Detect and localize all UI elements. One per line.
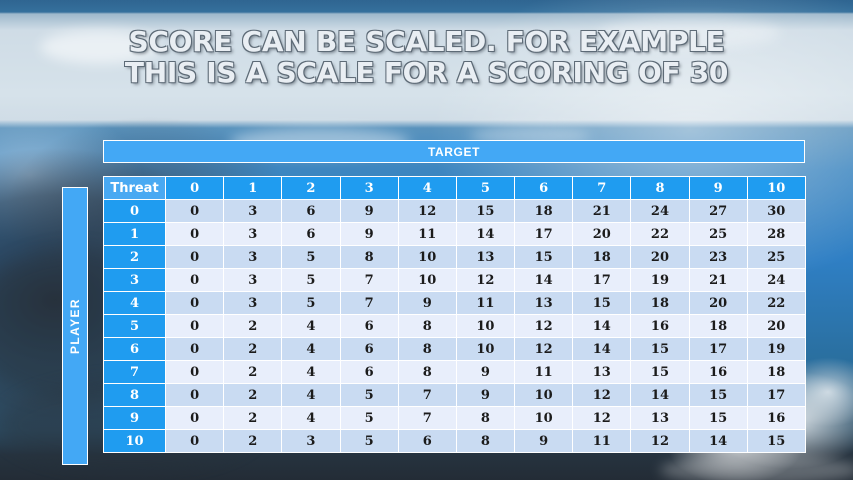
cell-r4-c9: 20: [689, 292, 747, 315]
cell-r1-c5: 14: [456, 223, 514, 246]
cell-r9-c3: 5: [340, 407, 398, 430]
cell-r5-c5: 10: [456, 315, 514, 338]
cell-r2-c8: 20: [631, 246, 689, 269]
cell-r4-c5: 11: [456, 292, 514, 315]
cell-r2-c7: 18: [573, 246, 631, 269]
cell-r8-c0: 0: [166, 384, 224, 407]
column-header-0: 0: [166, 177, 224, 200]
cell-r2-c2: 5: [282, 246, 340, 269]
cell-r5-c4: 8: [398, 315, 456, 338]
cell-r0-c0: 0: [166, 200, 224, 223]
cloud-wisp: [660, 455, 853, 480]
column-header-4: 4: [398, 177, 456, 200]
cell-r7-c7: 13: [573, 361, 631, 384]
player-axis-label: PLAYER: [62, 187, 88, 465]
column-header-1: 1: [224, 177, 282, 200]
score-table-wrapper: Threat 012345678910 00369121518212427301…: [103, 176, 805, 453]
cell-r1-c1: 3: [224, 223, 282, 246]
cell-r1-c7: 20: [573, 223, 631, 246]
cell-r6-c6: 12: [515, 338, 573, 361]
cell-r4-c8: 18: [631, 292, 689, 315]
cell-r6-c3: 6: [340, 338, 398, 361]
cell-r0-c7: 21: [573, 200, 631, 223]
cell-r7-c9: 16: [689, 361, 747, 384]
cell-r2-c10: 25: [747, 246, 805, 269]
row-header-4: 4: [104, 292, 166, 315]
cell-r8-c4: 7: [398, 384, 456, 407]
cell-r8-c7: 12: [573, 384, 631, 407]
cell-r0-c5: 15: [456, 200, 514, 223]
cell-r4-c3: 7: [340, 292, 398, 315]
cell-r1-c4: 11: [398, 223, 456, 246]
cell-r9-c1: 2: [224, 407, 282, 430]
table-row: 403579111315182022: [104, 292, 806, 315]
slide: SCORE CAN BE SCALED. FOR EXAMPLE THIS IS…: [0, 0, 853, 480]
cell-r0-c4: 12: [398, 200, 456, 223]
cell-r3-c3: 7: [340, 269, 398, 292]
row-header-8: 8: [104, 384, 166, 407]
cell-r7-c6: 11: [515, 361, 573, 384]
cell-r10-c5: 8: [456, 430, 514, 453]
cell-r7-c8: 15: [631, 361, 689, 384]
cell-r9-c5: 8: [456, 407, 514, 430]
cell-r1-c2: 6: [282, 223, 340, 246]
column-header-2: 2: [282, 177, 340, 200]
cell-r10-c9: 14: [689, 430, 747, 453]
cell-r1-c9: 25: [689, 223, 747, 246]
cell-r5-c3: 6: [340, 315, 398, 338]
cell-r4-c10: 22: [747, 292, 805, 315]
cell-r9-c2: 4: [282, 407, 340, 430]
target-axis-label: TARGET: [103, 140, 805, 163]
cell-r8-c6: 10: [515, 384, 573, 407]
cell-r5-c6: 12: [515, 315, 573, 338]
column-header-7: 7: [573, 177, 631, 200]
row-header-1: 1: [104, 223, 166, 246]
cell-r2-c1: 3: [224, 246, 282, 269]
cell-r3-c2: 5: [282, 269, 340, 292]
row-header-7: 7: [104, 361, 166, 384]
score-table: Threat 012345678910 00369121518212427301…: [103, 176, 806, 453]
row-header-3: 3: [104, 269, 166, 292]
cell-r0-c2: 6: [282, 200, 340, 223]
cell-r3-c0: 0: [166, 269, 224, 292]
cell-r5-c7: 14: [573, 315, 631, 338]
cell-r6-c1: 2: [224, 338, 282, 361]
cell-r7-c0: 0: [166, 361, 224, 384]
cell-r4-c6: 13: [515, 292, 573, 315]
cell-r7-c2: 4: [282, 361, 340, 384]
column-header-6: 6: [515, 177, 573, 200]
cell-r9-c10: 16: [747, 407, 805, 430]
cell-r2-c6: 15: [515, 246, 573, 269]
table-row: 602468101214151719: [104, 338, 806, 361]
cell-r7-c4: 8: [398, 361, 456, 384]
cell-r7-c1: 2: [224, 361, 282, 384]
cell-r1-c0: 0: [166, 223, 224, 246]
column-header-5: 5: [456, 177, 514, 200]
cell-r8-c10: 17: [747, 384, 805, 407]
cell-r3-c10: 24: [747, 269, 805, 292]
target-axis-label-text: TARGET: [428, 145, 480, 159]
table-row: 502468101214161820: [104, 315, 806, 338]
table-row: 10023568911121415: [104, 430, 806, 453]
cell-r10-c0: 0: [166, 430, 224, 453]
cell-r5-c1: 2: [224, 315, 282, 338]
cell-r3-c8: 19: [631, 269, 689, 292]
cell-r6-c5: 10: [456, 338, 514, 361]
table-header-row: Threat 012345678910: [104, 177, 806, 200]
cell-r2-c5: 13: [456, 246, 514, 269]
cell-r10-c2: 3: [282, 430, 340, 453]
cell-r1-c6: 17: [515, 223, 573, 246]
corner-header-threat: Threat: [104, 177, 166, 200]
cell-r4-c7: 15: [573, 292, 631, 315]
cell-r9-c9: 15: [689, 407, 747, 430]
cell-r9-c8: 13: [631, 407, 689, 430]
row-header-5: 5: [104, 315, 166, 338]
row-header-0: 0: [104, 200, 166, 223]
cell-r3-c4: 10: [398, 269, 456, 292]
cell-r0-c3: 9: [340, 200, 398, 223]
cell-r3-c7: 17: [573, 269, 631, 292]
cell-r9-c0: 0: [166, 407, 224, 430]
table-row: 1036911141720222528: [104, 223, 806, 246]
cell-r3-c6: 14: [515, 269, 573, 292]
table-header: Threat 012345678910: [104, 177, 806, 200]
cell-r0-c1: 3: [224, 200, 282, 223]
cell-r4-c4: 9: [398, 292, 456, 315]
cell-r4-c1: 3: [224, 292, 282, 315]
table-row: 3035710121417192124: [104, 269, 806, 292]
cell-r6-c2: 4: [282, 338, 340, 361]
cell-r6-c4: 8: [398, 338, 456, 361]
column-header-9: 9: [689, 177, 747, 200]
cell-r7-c3: 6: [340, 361, 398, 384]
cell-r1-c10: 28: [747, 223, 805, 246]
table-row: 90245781012131516: [104, 407, 806, 430]
cell-r10-c3: 5: [340, 430, 398, 453]
cell-r4-c0: 0: [166, 292, 224, 315]
table-row: 80245791012141517: [104, 384, 806, 407]
page-title: SCORE CAN BE SCALED. FOR EXAMPLE THIS IS…: [0, 26, 853, 88]
table-row: 70246891113151618: [104, 361, 806, 384]
cell-r2-c0: 0: [166, 246, 224, 269]
cell-r1-c3: 9: [340, 223, 398, 246]
cell-r8-c2: 4: [282, 384, 340, 407]
cell-r10-c8: 12: [631, 430, 689, 453]
cell-r8-c5: 9: [456, 384, 514, 407]
cell-r3-c5: 12: [456, 269, 514, 292]
cell-r5-c10: 20: [747, 315, 805, 338]
cell-r5-c8: 16: [631, 315, 689, 338]
cell-r8-c8: 14: [631, 384, 689, 407]
cell-r0-c6: 18: [515, 200, 573, 223]
table-row: 2035810131518202325: [104, 246, 806, 269]
column-header-10: 10: [747, 177, 805, 200]
cell-r6-c7: 14: [573, 338, 631, 361]
cell-r6-c9: 17: [689, 338, 747, 361]
cell-r0-c8: 24: [631, 200, 689, 223]
cell-r10-c1: 2: [224, 430, 282, 453]
cell-r10-c7: 11: [573, 430, 631, 453]
cell-r4-c2: 5: [282, 292, 340, 315]
cell-r6-c0: 0: [166, 338, 224, 361]
cell-r8-c9: 15: [689, 384, 747, 407]
cell-r7-c10: 18: [747, 361, 805, 384]
cell-r9-c6: 10: [515, 407, 573, 430]
column-header-3: 3: [340, 177, 398, 200]
cell-r0-c9: 27: [689, 200, 747, 223]
cell-r0-c10: 30: [747, 200, 805, 223]
row-header-9: 9: [104, 407, 166, 430]
cell-r3-c1: 3: [224, 269, 282, 292]
cell-r5-c9: 18: [689, 315, 747, 338]
cell-r10-c4: 6: [398, 430, 456, 453]
cell-r2-c4: 10: [398, 246, 456, 269]
table-row: 0036912151821242730: [104, 200, 806, 223]
cell-r10-c10: 15: [747, 430, 805, 453]
cell-r6-c8: 15: [631, 338, 689, 361]
cell-r7-c5: 9: [456, 361, 514, 384]
row-header-10: 10: [104, 430, 166, 453]
cell-r9-c7: 12: [573, 407, 631, 430]
cell-r10-c6: 9: [515, 430, 573, 453]
row-header-6: 6: [104, 338, 166, 361]
cell-r8-c1: 2: [224, 384, 282, 407]
table-body: 0036912151821242730103691114172022252820…: [104, 200, 806, 453]
cell-r8-c3: 5: [340, 384, 398, 407]
player-axis-label-text: PLAYER: [68, 298, 82, 354]
column-header-8: 8: [631, 177, 689, 200]
cell-r5-c2: 4: [282, 315, 340, 338]
cell-r9-c4: 7: [398, 407, 456, 430]
row-header-2: 2: [104, 246, 166, 269]
cell-r3-c9: 21: [689, 269, 747, 292]
cell-r2-c3: 8: [340, 246, 398, 269]
cell-r5-c0: 0: [166, 315, 224, 338]
cell-r1-c8: 22: [631, 223, 689, 246]
cell-r6-c10: 19: [747, 338, 805, 361]
cell-r2-c9: 23: [689, 246, 747, 269]
